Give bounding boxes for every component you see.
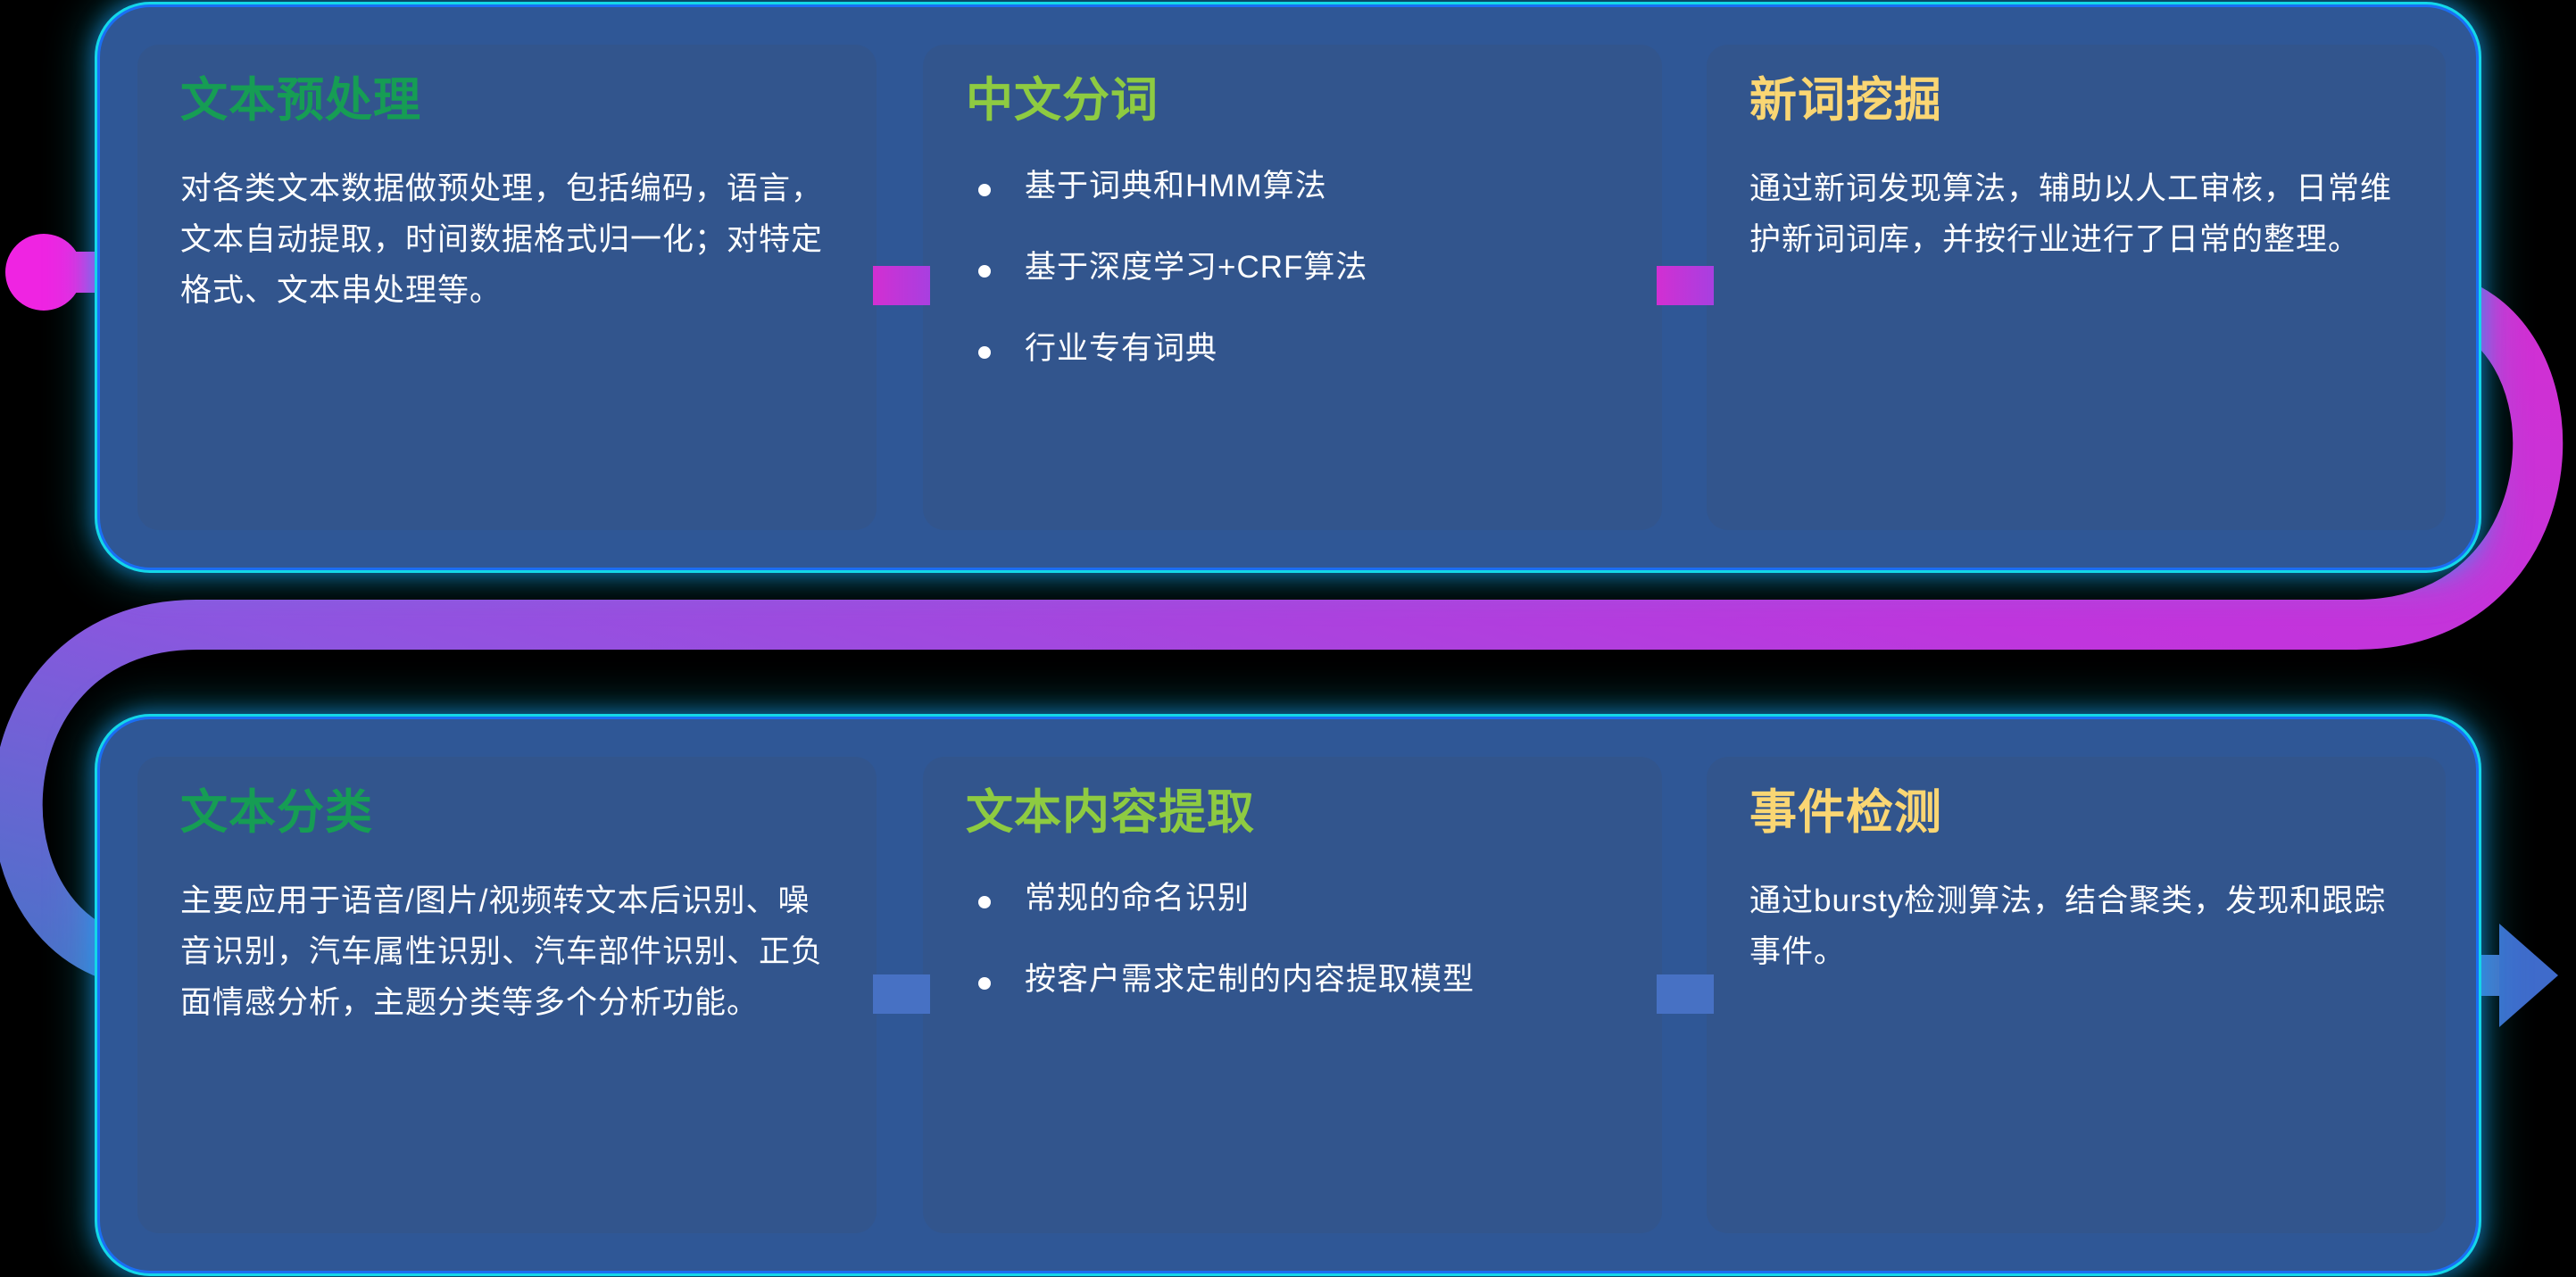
list-item: 行业专有词典: [966, 327, 1619, 372]
list-item-label: 按客户需求定制的内容提取模型: [1025, 962, 1475, 997]
flow-end-arrow-icon: [2499, 924, 2558, 1027]
list-item: 基于词典和HMM算法: [966, 164, 1619, 210]
card-body-text: 通过新词发现算法，辅助以人工审核，日常维护新词词库，并按行业进行了日常的整理。: [1749, 164, 2403, 265]
bullet-icon: [978, 184, 991, 196]
connector-nub-4-5: [873, 974, 930, 1014]
card-chinese-word-segmentation[interactable]: 中文分词 基于词典和HMM算法 基于深度学习+CRF算法 行业专有词典: [923, 45, 1662, 530]
list-item: 常规的命名识别: [966, 876, 1619, 922]
pipeline-row-1: 文本预处理 对各类文本数据做预处理，包括编码，语言，文本自动提取，时间数据格式归…: [100, 7, 2476, 568]
card-title: 中文分词: [966, 75, 1619, 127]
list-item-label: 行业专有词典: [1025, 331, 1217, 366]
card-text-classification[interactable]: 文本分类 主要应用于语音/图片/视频转文本后识别、噪音识别，汽车属性识别、汽车部…: [137, 757, 877, 1233]
list-item-label: 常规的命名识别: [1025, 881, 1250, 916]
bullet-icon: [978, 896, 991, 908]
bullet-icon: [978, 977, 991, 990]
bullet-icon: [978, 265, 991, 278]
list-item-label: 基于词典和HMM算法: [1025, 169, 1327, 203]
card-title: 文本分类: [180, 787, 834, 839]
list-item: 按客户需求定制的内容提取模型: [966, 958, 1619, 1003]
pipeline-row-2: 文本分类 主要应用于语音/图片/视频转文本后识别、噪音识别，汽车属性识别、汽车部…: [100, 719, 2476, 1271]
card-title: 文本内容提取: [966, 787, 1619, 839]
connector-nub-2-3: [1657, 266, 1714, 305]
list-item: 基于深度学习+CRF算法: [966, 245, 1619, 291]
card-event-detection[interactable]: 事件检测 通过bursty检测算法，结合聚类，发现和跟踪事件。: [1707, 757, 2446, 1233]
card-title: 新词挖掘: [1749, 75, 2403, 127]
card-text-preprocessing[interactable]: 文本预处理 对各类文本数据做预处理，包括编码，语言，文本自动提取，时间数据格式归…: [137, 45, 877, 530]
card-bullet-list: 常规的命名识别 按客户需求定制的内容提取模型: [966, 876, 1619, 1003]
connector-nub-1-2: [873, 266, 930, 305]
card-body-text: 对各类文本数据做预处理，包括编码，语言，文本自动提取，时间数据格式归一化；对特定…: [180, 164, 834, 316]
list-item-label: 基于深度学习+CRF算法: [1025, 250, 1367, 285]
card-bullet-list: 基于词典和HMM算法 基于深度学习+CRF算法 行业专有词典: [966, 164, 1619, 371]
card-new-word-discovery[interactable]: 新词挖掘 通过新词发现算法，辅助以人工审核，日常维护新词词库，并按行业进行了日常…: [1707, 45, 2446, 530]
card-title: 文本预处理: [180, 75, 834, 127]
connector-nub-5-6: [1657, 974, 1714, 1014]
bullet-icon: [978, 346, 991, 359]
diagram-canvas: 文本预处理 对各类文本数据做预处理，包括编码，语言，文本自动提取，时间数据格式归…: [0, 0, 2576, 1277]
card-title: 事件检测: [1749, 787, 2403, 839]
card-text-content-extraction[interactable]: 文本内容提取 常规的命名识别 按客户需求定制的内容提取模型: [923, 757, 1662, 1233]
card-body-text: 主要应用于语音/图片/视频转文本后识别、噪音识别，汽车属性识别、汽车部件识别、正…: [180, 876, 834, 1028]
card-body-text: 通过bursty检测算法，结合聚类，发现和跟踪事件。: [1749, 876, 2403, 977]
